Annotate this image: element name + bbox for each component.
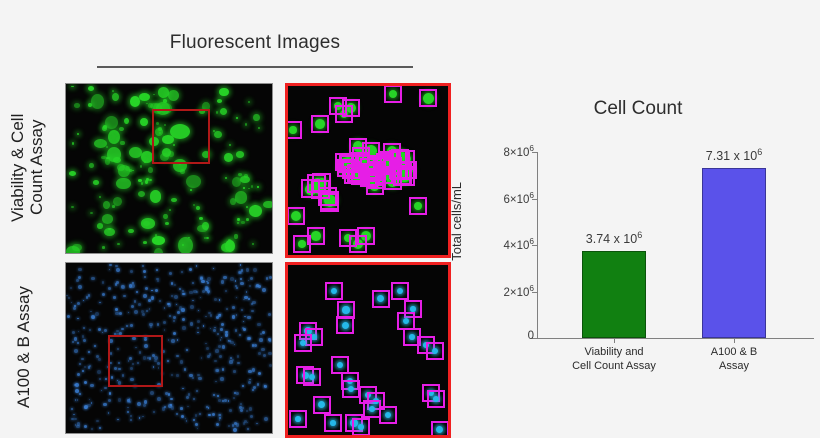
- nuclear-stain-dot: [134, 310, 138, 314]
- nuclear-stain-dot: [99, 427, 101, 429]
- nuclear-stain-dot: [224, 399, 227, 402]
- fluorescent-cell: [248, 188, 250, 190]
- nuclear-stain-dot: [119, 312, 122, 315]
- nuclear-stain-dot: [190, 322, 193, 325]
- nuclear-stain-dot: [74, 337, 78, 341]
- detection-box: [372, 290, 390, 308]
- nuclear-stain-dot: [98, 358, 102, 362]
- nuclear-stain-dot: [243, 321, 245, 323]
- nuclear-stain-dot: [239, 334, 241, 336]
- nuclear-stain-dot: [205, 316, 207, 318]
- fluorescent-cell: [217, 99, 222, 103]
- nuclear-stain-dot: [88, 294, 91, 297]
- nuclear-stain-dot: [156, 269, 159, 272]
- nuclear-stain-dot: [144, 400, 148, 404]
- fluorescent-cell: [186, 175, 201, 188]
- fluorescent-cell: [163, 214, 168, 220]
- nuclear-stain-dot: [233, 428, 237, 432]
- nuclear-stain-dot: [236, 297, 238, 299]
- nuclear-stain-dot: [99, 302, 101, 304]
- nuclear-stain-dot: [109, 392, 112, 395]
- nuclear-stain-dot: [240, 264, 242, 266]
- a100b-overview-image: [65, 262, 273, 434]
- detection-box: [311, 115, 329, 133]
- nuclear-stain-dot: [91, 277, 95, 281]
- nuclear-stain-dot: [91, 428, 93, 430]
- nuclear-stain-dot: [215, 349, 219, 353]
- nuclear-stain-dot: [269, 364, 272, 367]
- x-tick-mark: [734, 338, 735, 343]
- fluorescent-cell: [240, 176, 250, 184]
- nuclear-stain-dot: [253, 268, 257, 272]
- nuclear-stain-dot: [182, 318, 185, 321]
- fluorescent-cell: [117, 164, 125, 171]
- detection-box: [379, 406, 397, 424]
- nuclear-stain-dot: [146, 310, 148, 312]
- nuclear-stain-dot: [244, 316, 246, 318]
- nuclear-stain-dot: [70, 287, 72, 289]
- nuclear-stain-dot: [242, 407, 244, 409]
- fluorescent-cell: [130, 96, 141, 107]
- nuclear-stain-dot: [98, 328, 101, 331]
- nuclear-stain-dot: [234, 344, 236, 346]
- nuclear-stain-dot: [149, 323, 153, 327]
- nuclear-stain-dot: [89, 399, 91, 401]
- fluorescent-cell: [228, 239, 231, 241]
- nuclear-stain-dot: [173, 320, 176, 323]
- nuclear-stain-dot: [200, 297, 202, 299]
- nuclear-stain-dot: [118, 398, 122, 402]
- nuclear-stain-dot: [235, 280, 237, 282]
- nuclear-stain-dot: [246, 410, 248, 412]
- fluorescent-cell: [229, 144, 231, 146]
- detection-box: [391, 282, 409, 300]
- nuclear-stain-dot: [205, 343, 207, 345]
- fluorescent-cell: [154, 248, 163, 254]
- fluorescent-cell: [246, 206, 248, 208]
- fluorescent-cell: [171, 198, 177, 202]
- viability-zoom-image: [285, 83, 451, 258]
- nuclear-stain-dot: [84, 366, 86, 368]
- nuclear-stain-dot: [79, 363, 81, 365]
- fluorescent-cell: [150, 190, 162, 202]
- fluorescent-images-title: Fluorescent Images: [97, 32, 413, 54]
- nuclear-stain-dot: [262, 288, 266, 292]
- nuclear-stain-dot: [197, 428, 198, 429]
- roi-rectangle: [108, 335, 163, 387]
- nuclear-stain-dot: [179, 288, 181, 290]
- fluorescent-cell: [102, 214, 114, 224]
- nuclear-stain-dot: [232, 306, 235, 309]
- nuclear-stain-dot: [144, 276, 147, 279]
- nuclear-stain-dot: [130, 324, 133, 327]
- nuclear-stain-dot: [230, 277, 234, 281]
- nuclear-stain-dot: [251, 310, 253, 312]
- nuclear-stain-dot: [72, 341, 74, 343]
- fluorescent-cell: [252, 243, 254, 245]
- nuclear-stain-dot: [240, 409, 243, 412]
- nuclear-stain-dot: [187, 406, 189, 408]
- nuclear-stain-dot: [90, 384, 94, 388]
- nuclear-stain-dot: [169, 272, 172, 275]
- nuclear-stain-dot: [264, 417, 268, 421]
- nuclear-stain-dot: [145, 287, 148, 290]
- nuclear-stain-dot: [184, 368, 186, 370]
- nuclear-stain-dot: [123, 295, 126, 298]
- nuclear-stain-dot: [220, 339, 222, 341]
- nuclear-stain-dot: [176, 413, 178, 415]
- nuclear-stain-dot: [241, 309, 243, 311]
- nuclear-stain-dot: [196, 390, 198, 392]
- nuclear-stain-dot: [218, 414, 221, 417]
- nuclear-stain-dot: [261, 348, 265, 352]
- nuclear-stain-dot: [214, 327, 216, 329]
- nuclear-stain-dot: [192, 300, 194, 302]
- fluorescent-cell: [143, 241, 148, 244]
- detection-box: [352, 418, 370, 436]
- fluorescent-cell: [90, 212, 93, 214]
- fluorescent-cell: [230, 198, 236, 204]
- detection-box: [307, 227, 325, 245]
- nuclear-stain-dot: [248, 298, 250, 300]
- nuclear-stain-dot: [212, 413, 215, 416]
- fluorescent-cell: [257, 186, 259, 188]
- nuclear-stain-dot: [136, 291, 138, 293]
- nuclear-stain-dot: [210, 314, 213, 317]
- fluorescent-cell: [77, 133, 79, 136]
- nuclear-stain-dot: [121, 285, 125, 289]
- nuclear-stain-dot: [222, 368, 225, 371]
- nuclear-stain-dot: [109, 264, 112, 267]
- nuclear-stain-dot: [171, 339, 175, 343]
- x-tick-label: Viability and Cell Count Assay: [549, 346, 679, 374]
- y-tick-label: 2×106: [464, 284, 534, 299]
- nuclear-stain-dot: [176, 374, 178, 376]
- nuclear-stain-dot: [246, 268, 250, 272]
- fluorescent-cell: [112, 93, 119, 101]
- nuclear-stain-dot: [127, 407, 129, 409]
- nuclear-stain-dot: [74, 418, 77, 421]
- nuclear-stain-dot: [207, 355, 210, 358]
- y-tick-label: 8×106: [464, 144, 534, 159]
- nuclear-stain-dot: [256, 423, 258, 425]
- nuclear-stain-dot: [234, 422, 237, 425]
- nuclear-stain-dot: [229, 409, 232, 412]
- nuclear-stain-dot: [206, 287, 209, 290]
- nuclear-stain-dot: [117, 419, 119, 421]
- nuclear-stain-dot: [174, 295, 178, 299]
- nuclear-stain-dot: [249, 285, 251, 287]
- fluorescent-cell: [180, 169, 185, 175]
- nuclear-stain-dot: [168, 404, 172, 408]
- nuclear-stain-dot: [142, 265, 144, 267]
- nuclear-stain-dot: [127, 399, 130, 402]
- nuclear-stain-dot: [77, 318, 79, 320]
- cell-count-bar-chart: Cell Count Total cells/mL 02×1064×1066×1…: [462, 90, 814, 390]
- bar-value-label: 7.31 x 106: [706, 147, 762, 163]
- nuclear-stain-dot: [171, 282, 173, 284]
- nuclear-stain-dot: [67, 315, 70, 318]
- nuclear-stain-dot: [103, 403, 107, 407]
- nuclear-stain-dot: [71, 408, 73, 410]
- fluorescent-cell: [117, 243, 120, 245]
- nuclear-stain-dot: [236, 314, 238, 316]
- nuclear-stain-dot: [240, 282, 244, 286]
- fluorescent-cell: [199, 217, 203, 220]
- detection-box: [287, 207, 305, 225]
- detection-box: [342, 380, 360, 398]
- nuclear-stain-dot: [210, 328, 212, 330]
- bar-value-label: 3.74 x 106: [586, 230, 642, 246]
- nuclear-stain-dot: [195, 414, 198, 417]
- nuclear-stain-dot: [148, 299, 151, 302]
- a100b-zoom-image: [285, 262, 451, 438]
- nuclear-stain-dot: [262, 331, 265, 334]
- nuclear-stain-dot: [248, 280, 249, 281]
- fluorescent-cell: [219, 88, 229, 97]
- nuclear-stain-dot: [143, 294, 147, 298]
- nuclear-stain-dot: [130, 419, 132, 421]
- nuclear-stain-dot: [177, 339, 179, 341]
- nuclear-stain-dot: [168, 303, 172, 307]
- fluorescent-cell: [206, 237, 209, 239]
- nuclear-stain-dot: [197, 332, 199, 334]
- nuclear-stain-dot: [104, 387, 107, 390]
- fluorescent-cell: [178, 237, 193, 254]
- nuclear-stain-dot: [249, 407, 253, 411]
- nuclear-stain-dot: [236, 392, 239, 395]
- nuclear-stain-dot: [83, 327, 85, 329]
- fluorescent-cell: [141, 182, 144, 185]
- nuclear-stain-dot: [101, 390, 103, 392]
- detection-box: [426, 342, 444, 360]
- nuclear-stain-dot: [213, 394, 215, 396]
- nuclear-stain-dot: [218, 399, 221, 402]
- y-tick-label: 0: [464, 330, 534, 342]
- nuclear-stain-dot: [201, 280, 204, 283]
- nuclear-stain-dot: [108, 412, 110, 414]
- nuclear-stain-dot: [198, 310, 200, 312]
- detection-box: [324, 414, 342, 432]
- nuclear-stain-dot: [258, 285, 261, 288]
- detection-box: [325, 282, 343, 300]
- nuclear-stain-dot: [171, 295, 173, 297]
- fluorescent-cell: [234, 234, 238, 238]
- nuclear-stain-dot: [215, 369, 218, 372]
- fluorescent-cell: [236, 151, 244, 157]
- nuclear-stain-dot: [217, 395, 219, 397]
- nuclear-stain-dot: [165, 392, 168, 395]
- fluorescent-cell: [103, 201, 110, 209]
- nuclear-stain-dot: [84, 425, 87, 428]
- nuclear-stain-dot: [182, 290, 184, 292]
- nuclear-stain-dot: [126, 325, 128, 327]
- nuclear-stain-dot: [214, 360, 216, 362]
- fluorescent-cell: [225, 177, 227, 179]
- fluorescent-cell: [190, 189, 192, 191]
- nuclear-stain-dot: [216, 316, 219, 319]
- detection-box: [342, 99, 360, 117]
- nuclear-stain-dot: [186, 420, 188, 422]
- fluorescent-cell: [72, 244, 82, 252]
- fluorescent-cell: [216, 111, 218, 114]
- fluorescent-cell: [241, 221, 244, 224]
- nuclear-stain-dot: [130, 415, 132, 417]
- nuclear-stain-dot: [174, 284, 176, 286]
- nuclear-stain-dot: [182, 326, 186, 330]
- fluorescent-cell: [225, 240, 235, 252]
- detection-box: [397, 150, 415, 168]
- bar-2: 7.31 x 106: [702, 168, 766, 338]
- fluorescent-cell: [249, 205, 262, 217]
- fluorescent-cell: [91, 94, 104, 109]
- nuclear-stain-dot: [157, 323, 160, 326]
- detection-box: [313, 396, 331, 414]
- roi-rectangle: [152, 109, 210, 164]
- nuclear-stain-dot: [72, 331, 75, 334]
- nuclear-stain-dot: [248, 381, 251, 384]
- y-axis-line: [537, 152, 538, 338]
- nuclear-stain-dot: [143, 404, 146, 407]
- nuclear-stain-dot: [232, 315, 236, 319]
- nuclear-stain-dot: [243, 328, 246, 331]
- nuclear-stain-dot: [164, 307, 166, 309]
- detection-box: [351, 167, 369, 185]
- nuclear-stain-dot: [138, 303, 141, 306]
- nuclear-stain-dot: [130, 270, 133, 273]
- nuclear-stain-dot: [201, 357, 203, 359]
- nuclear-stain-dot: [247, 316, 251, 320]
- fluorescent-cell: [168, 90, 179, 101]
- row-label-a100-b-assay: A100 & B Assay: [14, 262, 48, 432]
- y-tick-label: 4×106: [464, 237, 534, 252]
- fluorescent-cell: [169, 209, 171, 211]
- fluorescent-cell: [129, 147, 142, 158]
- nuclear-stain-dot: [82, 335, 85, 338]
- fluorescent-cell: [112, 90, 114, 92]
- fluorescent-cell: [148, 167, 153, 173]
- nuclear-stain-dot: [176, 304, 177, 305]
- nuclear-stain-dot: [269, 276, 272, 279]
- fluorescent-cell: [119, 127, 124, 131]
- nuclear-stain-dot: [139, 417, 141, 419]
- nuclear-stain-dot: [222, 345, 226, 349]
- nuclear-stain-dot: [247, 428, 249, 430]
- fluorescent-cell: [220, 108, 228, 116]
- fluorescent-cell: [237, 222, 240, 224]
- nuclear-stain-dot: [244, 296, 248, 300]
- nuclear-stain-dot: [225, 290, 228, 293]
- nuclear-stain-dot: [91, 402, 93, 404]
- nuclear-stain-dot: [221, 337, 223, 339]
- nuclear-stain-dot: [167, 360, 169, 362]
- detection-box: [285, 121, 302, 139]
- nuclear-stain-dot: [79, 393, 81, 395]
- fluorescent-cell: [237, 218, 240, 221]
- nuclear-stain-dot: [219, 355, 222, 358]
- nuclear-stain-dot: [259, 338, 263, 342]
- fluorescent-cell: [143, 221, 150, 226]
- detection-box: [409, 197, 427, 215]
- nuclear-stain-dot: [221, 323, 224, 326]
- fluorescent-cell: [153, 239, 156, 241]
- nuclear-stain-dot: [252, 301, 255, 304]
- nuclear-stain-dot: [252, 389, 254, 391]
- nuclear-stain-dot: [223, 276, 227, 280]
- nuclear-stain-dot: [234, 392, 236, 394]
- nuclear-stain-dot: [77, 342, 79, 344]
- nuclear-stain-dot: [143, 270, 146, 273]
- nuclear-stain-dot: [78, 276, 81, 279]
- fluorescent-cell: [140, 118, 148, 127]
- detection-box: [394, 167, 412, 185]
- nuclear-stain-dot: [208, 414, 210, 416]
- fluorescent-cell: [251, 185, 254, 188]
- nuclear-stain-dot: [195, 423, 199, 427]
- nuclear-stain-dot: [76, 425, 80, 429]
- nuclear-stain-dot: [108, 287, 111, 290]
- figure-root: Fluorescent Images Viability & Cell Coun…: [0, 0, 820, 438]
- fluorescent-cell: [153, 94, 155, 96]
- fluorescent-cell: [245, 123, 247, 125]
- nuclear-stain-dot: [92, 316, 95, 319]
- nuclear-stain-dot: [198, 377, 202, 381]
- nuclear-stain-dot: [116, 268, 120, 272]
- nuclear-stain-dot: [90, 311, 92, 313]
- nuclear-stain-dot: [236, 287, 238, 289]
- nuclear-stain-dot: [153, 411, 155, 413]
- nuclear-stain-dot: [83, 300, 85, 302]
- nuclear-stain-dot: [237, 362, 239, 364]
- nuclear-stain-dot: [78, 331, 80, 333]
- detection-box: [289, 410, 307, 428]
- nuclear-stain-dot: [78, 268, 82, 272]
- fluorescent-cell: [140, 165, 142, 168]
- nuclear-stain-dot: [168, 339, 170, 341]
- nuclear-stain-dot: [77, 302, 80, 305]
- nuclear-stain-dot: [134, 300, 137, 303]
- fluorescent-cell: [236, 117, 239, 120]
- fluorescent-cell: [116, 178, 131, 190]
- nuclear-stain-dot: [228, 425, 230, 427]
- nuclear-stain-dot: [73, 414, 75, 416]
- nuclear-stain-dot: [137, 402, 141, 406]
- fluorescent-cell: [253, 114, 260, 121]
- nuclear-stain-dot: [268, 313, 271, 316]
- y-tick-label: 6×106: [464, 191, 534, 206]
- nuclear-stain-dot: [78, 285, 82, 289]
- nuclear-stain-dot: [102, 332, 103, 333]
- nuclear-stain-dot: [115, 265, 118, 268]
- nuclear-stain-dot: [108, 399, 111, 402]
- detection-box: [336, 316, 354, 334]
- nuclear-stain-dot: [157, 280, 159, 282]
- nuclear-stain-dot: [202, 290, 205, 293]
- fluorescent-cell: [138, 191, 145, 197]
- detection-box: [294, 334, 312, 352]
- fluorescent-cell: [243, 187, 245, 189]
- nuclear-stain-dot: [239, 271, 242, 274]
- nuclear-stain-dot: [176, 355, 179, 358]
- nuclear-stain-dot: [115, 308, 118, 311]
- nuclear-stain-dot: [71, 302, 72, 303]
- nuclear-stain-dot: [157, 397, 161, 401]
- nuclear-stain-dot: [68, 297, 70, 299]
- nuclear-stain-dot: [128, 312, 129, 313]
- nuclear-stain-dot: [250, 277, 253, 280]
- nuclear-stain-dot: [242, 385, 244, 387]
- detection-box: [320, 193, 339, 212]
